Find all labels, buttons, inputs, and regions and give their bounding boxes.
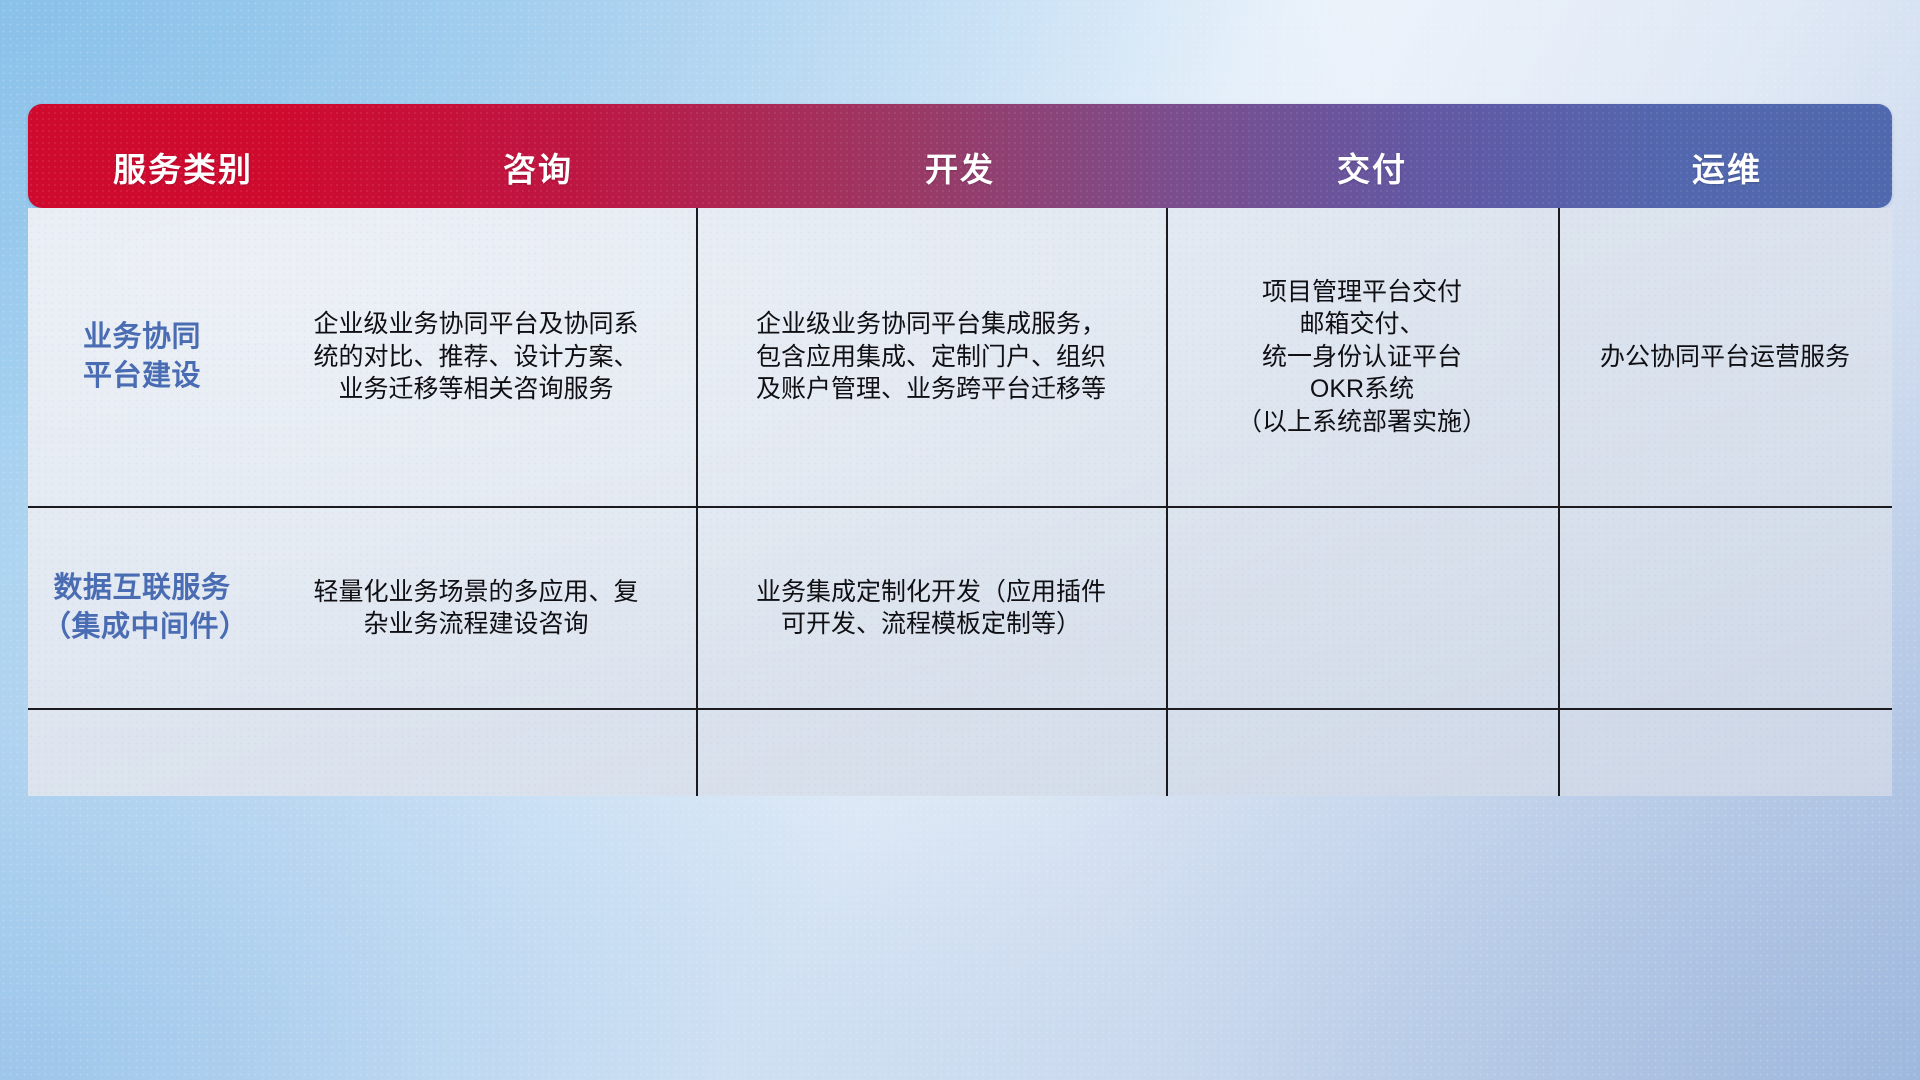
row-label-2: 数据互联服务 （集成中间件） [28,508,256,708]
column-header-development: 开发 [738,143,1182,208]
table-row: 应用定制 低代码平台推荐及咨询 基于低代码开发平台的微应用定 制开发； 基于通过… [28,710,1892,796]
cell-r1-operations: 办公协同平台运营服务 [1558,208,1892,506]
table-header-row: 服务类别 咨询 开发 交付 运维 [28,104,1892,208]
row-label-1: 业务协同 平台建设 [28,208,256,506]
cell-r3-operations [1558,710,1892,796]
cell-r2-development: 业务集成定制化开发（应用插件 可开发、流程模板定制等） [696,508,1166,708]
cell-r2-delivery [1166,508,1558,708]
cell-r1-delivery: 项目管理平台交付 邮箱交付、 统一身份认证平台 OKR系统 （以上系统部署实施） [1166,208,1558,506]
row-label-3: 应用定制 [28,710,256,796]
table-row: 业务协同 平台建设 企业级业务协同平台及协同系 统的对比、推荐、设计方案、 业务… [28,208,1892,506]
cell-r2-operations [1558,508,1892,708]
cell-r3-development: 基于低代码开发平台的微应用定 制开发； 基于通过语言的微应用定制开发 [696,710,1166,796]
column-header-consulting: 咨询 [338,143,738,208]
table-body: 业务协同 平台建设 企业级业务协同平台及协同系 统的对比、推荐、设计方案、 业务… [28,208,1892,796]
column-header-operations: 运维 [1562,143,1892,208]
service-matrix-table: 服务类别 咨询 开发 交付 运维 业务协同 平台建设 企业级业务协同平台及协同系… [28,104,1892,796]
column-header-category: 服务类别 [28,143,338,208]
column-header-delivery: 交付 [1182,143,1562,208]
cell-r1-development: 企业级业务协同平台集成服务， 包含应用集成、定制门户、组织 及账户管理、业务跨平… [696,208,1166,506]
cell-r1-consulting: 企业级业务协同平台及协同系 统的对比、推荐、设计方案、 业务迁移等相关咨询服务 [256,208,696,506]
table-row: 数据互联服务 （集成中间件） 轻量化业务场景的多应用、复 杂业务流程建设咨询 业… [28,508,1892,708]
cell-r3-delivery: 应用分发及管理 [1166,710,1558,796]
cell-r2-consulting: 轻量化业务场景的多应用、复 杂业务流程建设咨询 [256,508,696,708]
cell-r3-consulting: 低代码平台推荐及咨询 [256,710,696,796]
